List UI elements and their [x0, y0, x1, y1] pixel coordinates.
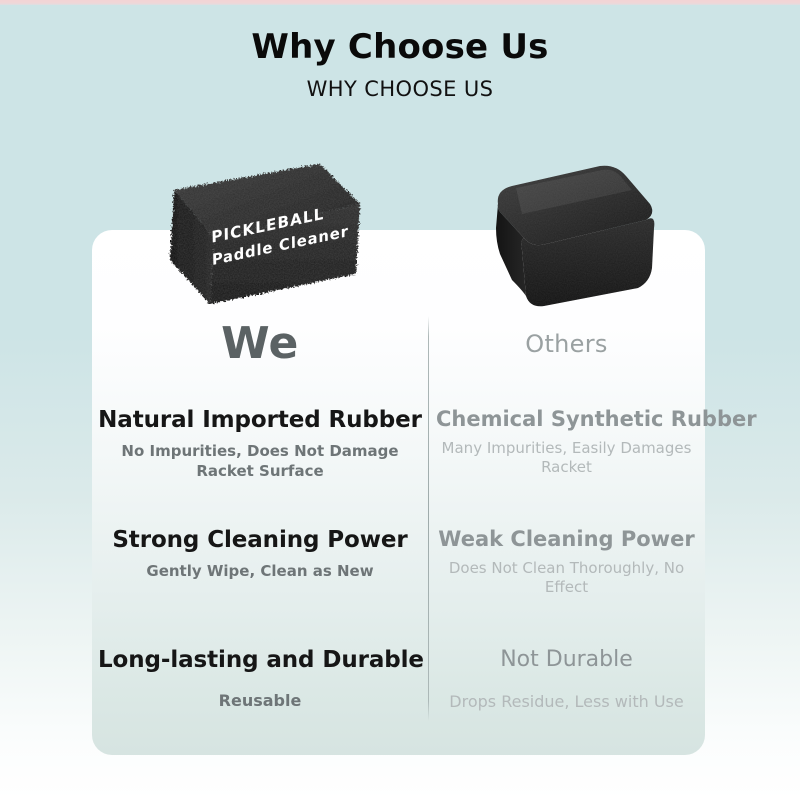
page-subtitle: WHY CHOOSE US — [0, 77, 800, 101]
others-feature-sub: Drops Residue, Less with Use — [436, 691, 697, 712]
others-feature-title: Not Durable — [436, 648, 697, 673]
comparison-row: Natural Imported Rubber No Impurities, D… — [92, 408, 705, 528]
page-title: Why Choose Us — [0, 30, 800, 66]
comparison-cell-others: Weak Cleaning Power Does Not Clean Thoro… — [428, 528, 705, 598]
header: Why Choose Us WHY CHOOSE US — [0, 30, 800, 101]
we-feature-sub: Reusable — [98, 690, 422, 711]
others-feature-title: Weak Cleaning Power — [436, 528, 697, 552]
we-feature-title: Strong Cleaning Power — [98, 528, 422, 554]
column-header-we: We — [92, 318, 428, 369]
comparison-cell-we: Natural Imported Rubber No Impurities, D… — [92, 408, 428, 481]
we-feature-title: Natural Imported Rubber — [98, 408, 422, 434]
comparison-rows: Natural Imported Rubber No Impurities, D… — [92, 408, 705, 768]
others-feature-sub: Does Not Clean Thoroughly, No Effect — [436, 559, 697, 599]
comparison-cell-we: Strong Cleaning Power Gently Wipe, Clean… — [92, 528, 428, 582]
comparison-row: Long-lasting and Durable Reusable Not Du… — [92, 648, 705, 768]
why-choose-us-infographic: Why Choose Us WHY CHOOSE US — [0, 0, 800, 800]
comparison-cell-others: Chemical Synthetic Rubber Many Impuritie… — [428, 408, 705, 478]
comparison-row: Strong Cleaning Power Gently Wipe, Clean… — [92, 528, 705, 648]
others-feature-sub: Many Impurities, Easily Damages Racket — [436, 439, 697, 479]
comparison-cell-we: Long-lasting and Durable Reusable — [92, 648, 428, 711]
we-feature-sub: No Impurities, Does Not Damage Racket Su… — [98, 442, 422, 482]
we-feature-title: Long-lasting and Durable — [98, 648, 422, 674]
top-accent-stripe — [0, 0, 800, 5]
comparison-cell-others: Not Durable Drops Residue, Less with Use — [428, 648, 705, 712]
others-feature-title: Chemical Synthetic Rubber — [436, 408, 697, 432]
column-header-others: Others — [428, 330, 705, 358]
we-feature-sub: Gently Wipe, Clean as New — [98, 562, 422, 582]
